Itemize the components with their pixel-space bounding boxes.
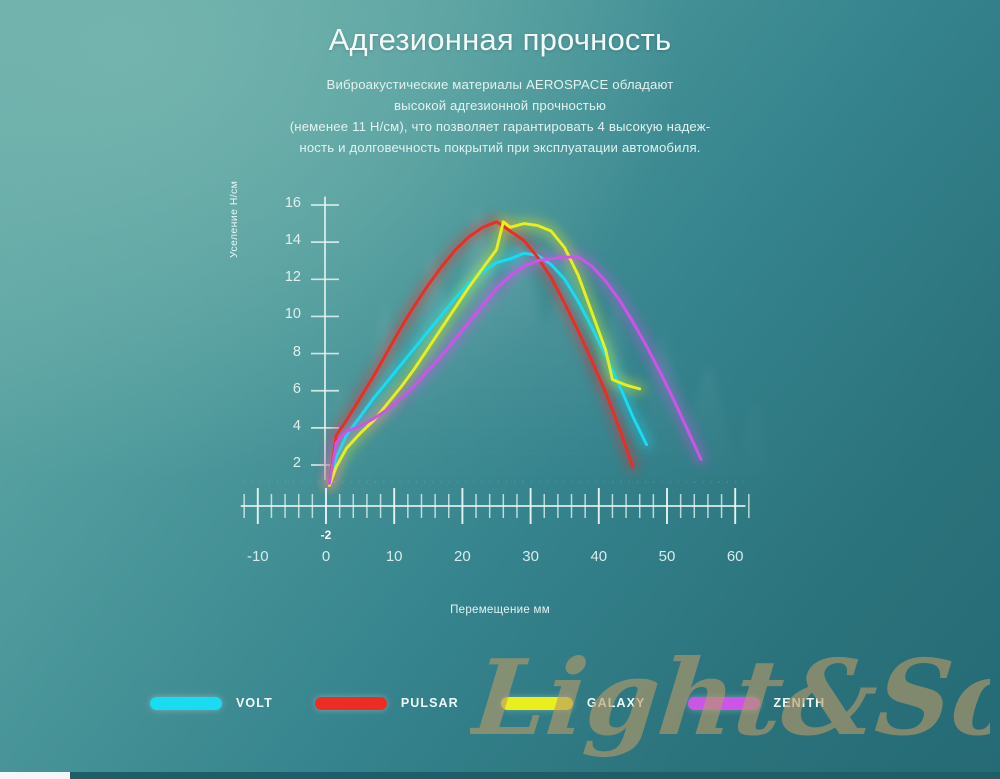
x-axis-title: Перемещение мм [0, 604, 1000, 616]
y-tick-16: 16 [273, 195, 301, 211]
legend-swatch-volt [150, 697, 222, 710]
y-tick-12: 12 [273, 269, 301, 285]
legend-label-galaxy: GALAXY [587, 696, 646, 710]
y-tick-10: 10 [273, 306, 301, 322]
legend-item-zenith[interactable]: ZENITH [688, 696, 868, 710]
header: Адгезионная прочность Виброакустические … [0, 22, 1000, 158]
legend-label-pulsar: PULSAR [401, 696, 459, 710]
legend-item-volt[interactable]: VOLT [150, 696, 315, 710]
chart-legend: VOLTPULSARGALAXYZENITH [150, 688, 870, 718]
zero-marker-label: -2 [311, 528, 341, 542]
x-tick-40: 40 [576, 548, 622, 565]
y-tick-6: 6 [273, 381, 301, 397]
description-line-4: ность и долговечность покрытий при экспл… [0, 137, 1000, 158]
line-chart [232, 186, 772, 506]
x-tick-60: 60 [712, 548, 758, 565]
legend-item-pulsar[interactable]: PULSAR [315, 696, 501, 710]
x-tick-10: 10 [371, 548, 417, 565]
legend-label-volt: VOLT [236, 696, 273, 710]
x-tick-50: 50 [644, 548, 690, 565]
page-title: Адгезионная прочность [0, 22, 1000, 58]
x-tick--10: -10 [235, 548, 281, 565]
description-line-2: высокой адгезионной прочностью [0, 95, 1000, 116]
legend-swatch-zenith [688, 697, 760, 710]
legend-item-galaxy[interactable]: GALAXY [501, 696, 688, 710]
y-tick-4: 4 [273, 418, 301, 434]
x-tick-0: 0 [303, 548, 349, 565]
description-line-3: (неменее 11 Н/см), что позволяет гаранти… [0, 116, 1000, 137]
legend-swatch-galaxy [501, 697, 573, 710]
y-tick-2: 2 [273, 455, 301, 471]
chart-canvas [232, 186, 772, 506]
bottom-left-strip [0, 772, 70, 779]
x-tick-20: 20 [439, 548, 485, 565]
legend-swatch-pulsar [315, 697, 387, 710]
y-tick-8: 8 [273, 344, 301, 360]
description-line-1: Виброакустические материалы AEROSPACE об… [0, 74, 1000, 95]
slide-root: Адгезионная прочность Виброакустические … [0, 0, 1000, 779]
legend-label-zenith: ZENITH [774, 696, 826, 710]
x-axis-ruler [240, 476, 760, 536]
description: Виброакустические материалы AEROSPACE об… [0, 74, 1000, 158]
bottom-edge-shadow [70, 772, 1000, 779]
y-tick-14: 14 [273, 232, 301, 248]
x-tick-30: 30 [508, 548, 554, 565]
